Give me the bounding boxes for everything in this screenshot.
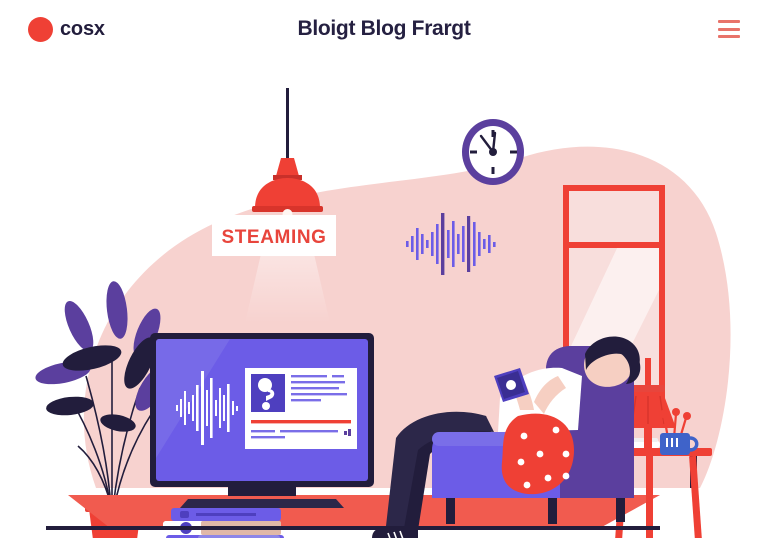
steaming-banner: STEAMING [212, 215, 336, 256]
banner-label: STEAMING [221, 227, 326, 248]
hamburger-bar-2 [718, 28, 740, 31]
pendant-lamp [245, 88, 330, 323]
rug [68, 495, 660, 528]
illustration-stage: STEAMING [0, 58, 768, 538]
hamburger-bar-3 [718, 35, 740, 38]
wall-clock [462, 119, 524, 185]
floor-line [46, 526, 660, 530]
site-header: cosx Bloigt Blog Frargt [0, 0, 768, 58]
book-stack [163, 508, 284, 538]
television [150, 333, 374, 508]
brand-name: cosx [60, 18, 105, 41]
article-card [245, 368, 357, 449]
page-root: cosx Bloigt Blog Frargt [0, 0, 768, 538]
logo-dot-icon [28, 17, 53, 42]
page-title: Bloigt Blog Frargt [0, 17, 768, 41]
hamburger-bar-1 [718, 20, 740, 23]
hamburger-menu-icon[interactable] [718, 20, 740, 38]
brand-logo[interactable]: cosx [28, 17, 105, 42]
